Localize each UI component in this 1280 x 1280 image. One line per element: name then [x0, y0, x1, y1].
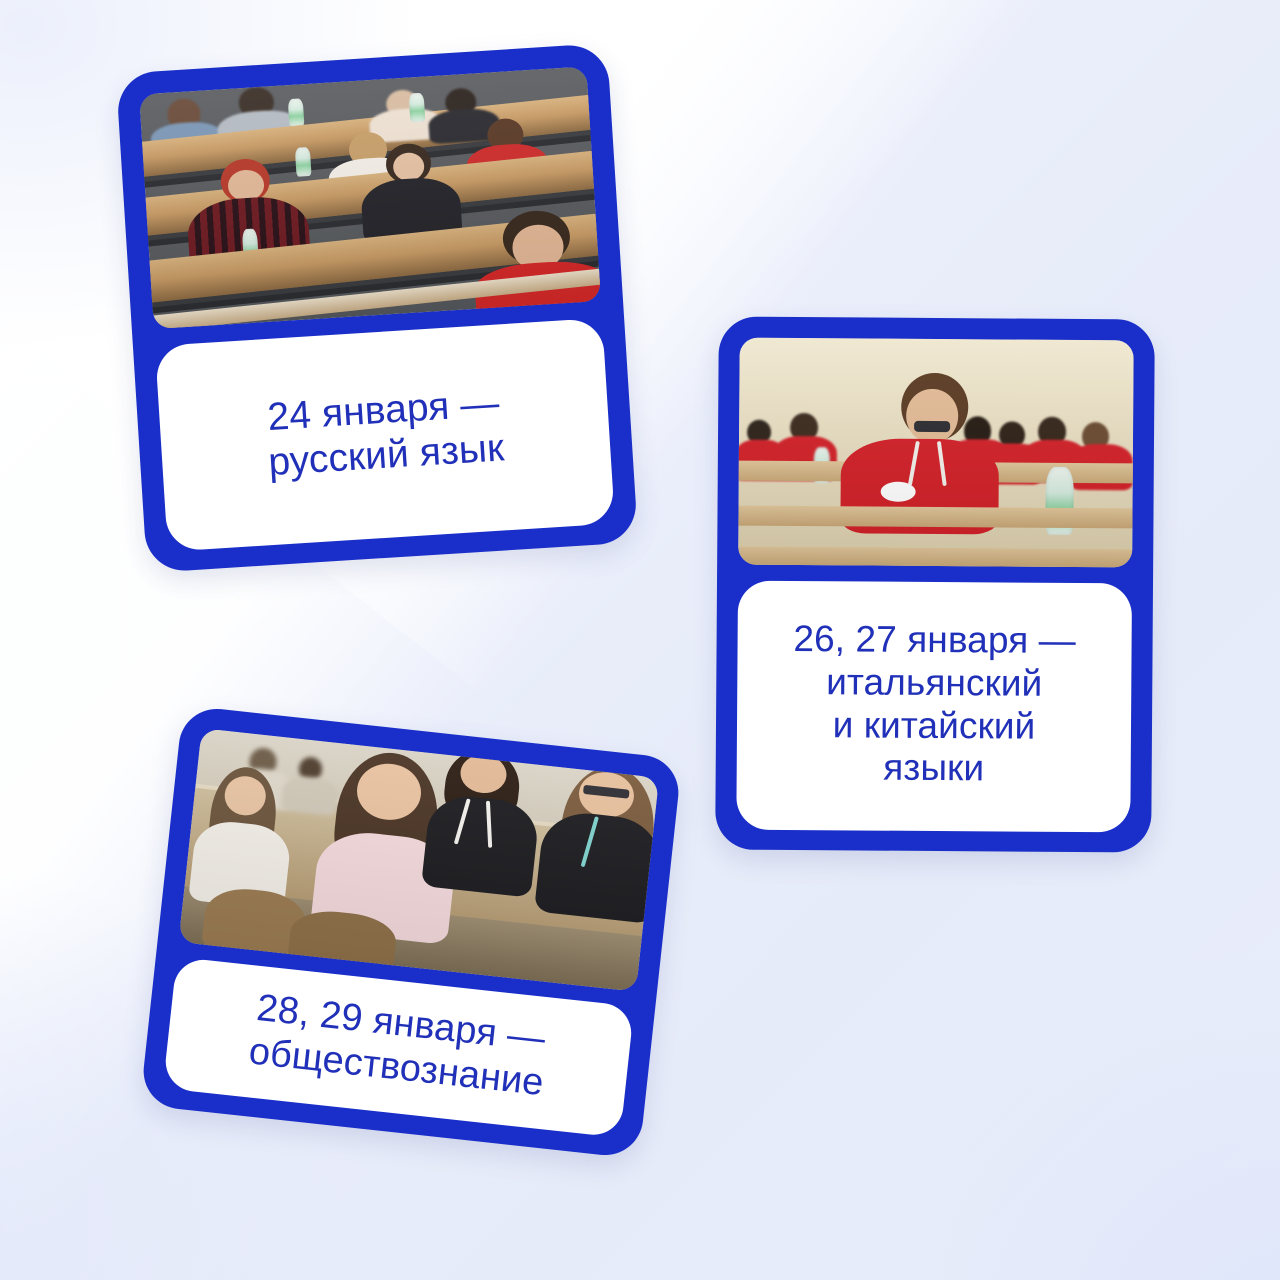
card-photo-hallway-group [179, 728, 660, 991]
card-caption-russian: 24 января — русский язык [155, 318, 615, 552]
card-caption-text: 28, 29 января — обществознание [247, 986, 551, 1106]
card-caption-text: 24 января — русский язык [264, 380, 505, 485]
exam-room-illustration [738, 338, 1134, 568]
card-photo-lecture-hall [139, 66, 601, 329]
card-caption-text: 26, 27 января — итальянский и китайский … [792, 618, 1076, 792]
schedule-card-russian[interactable]: 24 января — русский язык [116, 43, 638, 573]
schedule-card-languages[interactable]: 26, 27 января — итальянский и китайский … [715, 316, 1155, 852]
card-caption-languages: 26, 27 января — итальянский и китайский … [736, 581, 1132, 833]
card-caption-social-studies: 28, 29 января — обществознание [163, 957, 635, 1138]
lecture-hall-illustration [139, 66, 601, 329]
card-photo-exam-room [738, 338, 1134, 568]
hallway-group-illustration [179, 728, 660, 991]
schedule-card-social-studies[interactable]: 28, 29 января — обществознание [140, 705, 682, 1159]
